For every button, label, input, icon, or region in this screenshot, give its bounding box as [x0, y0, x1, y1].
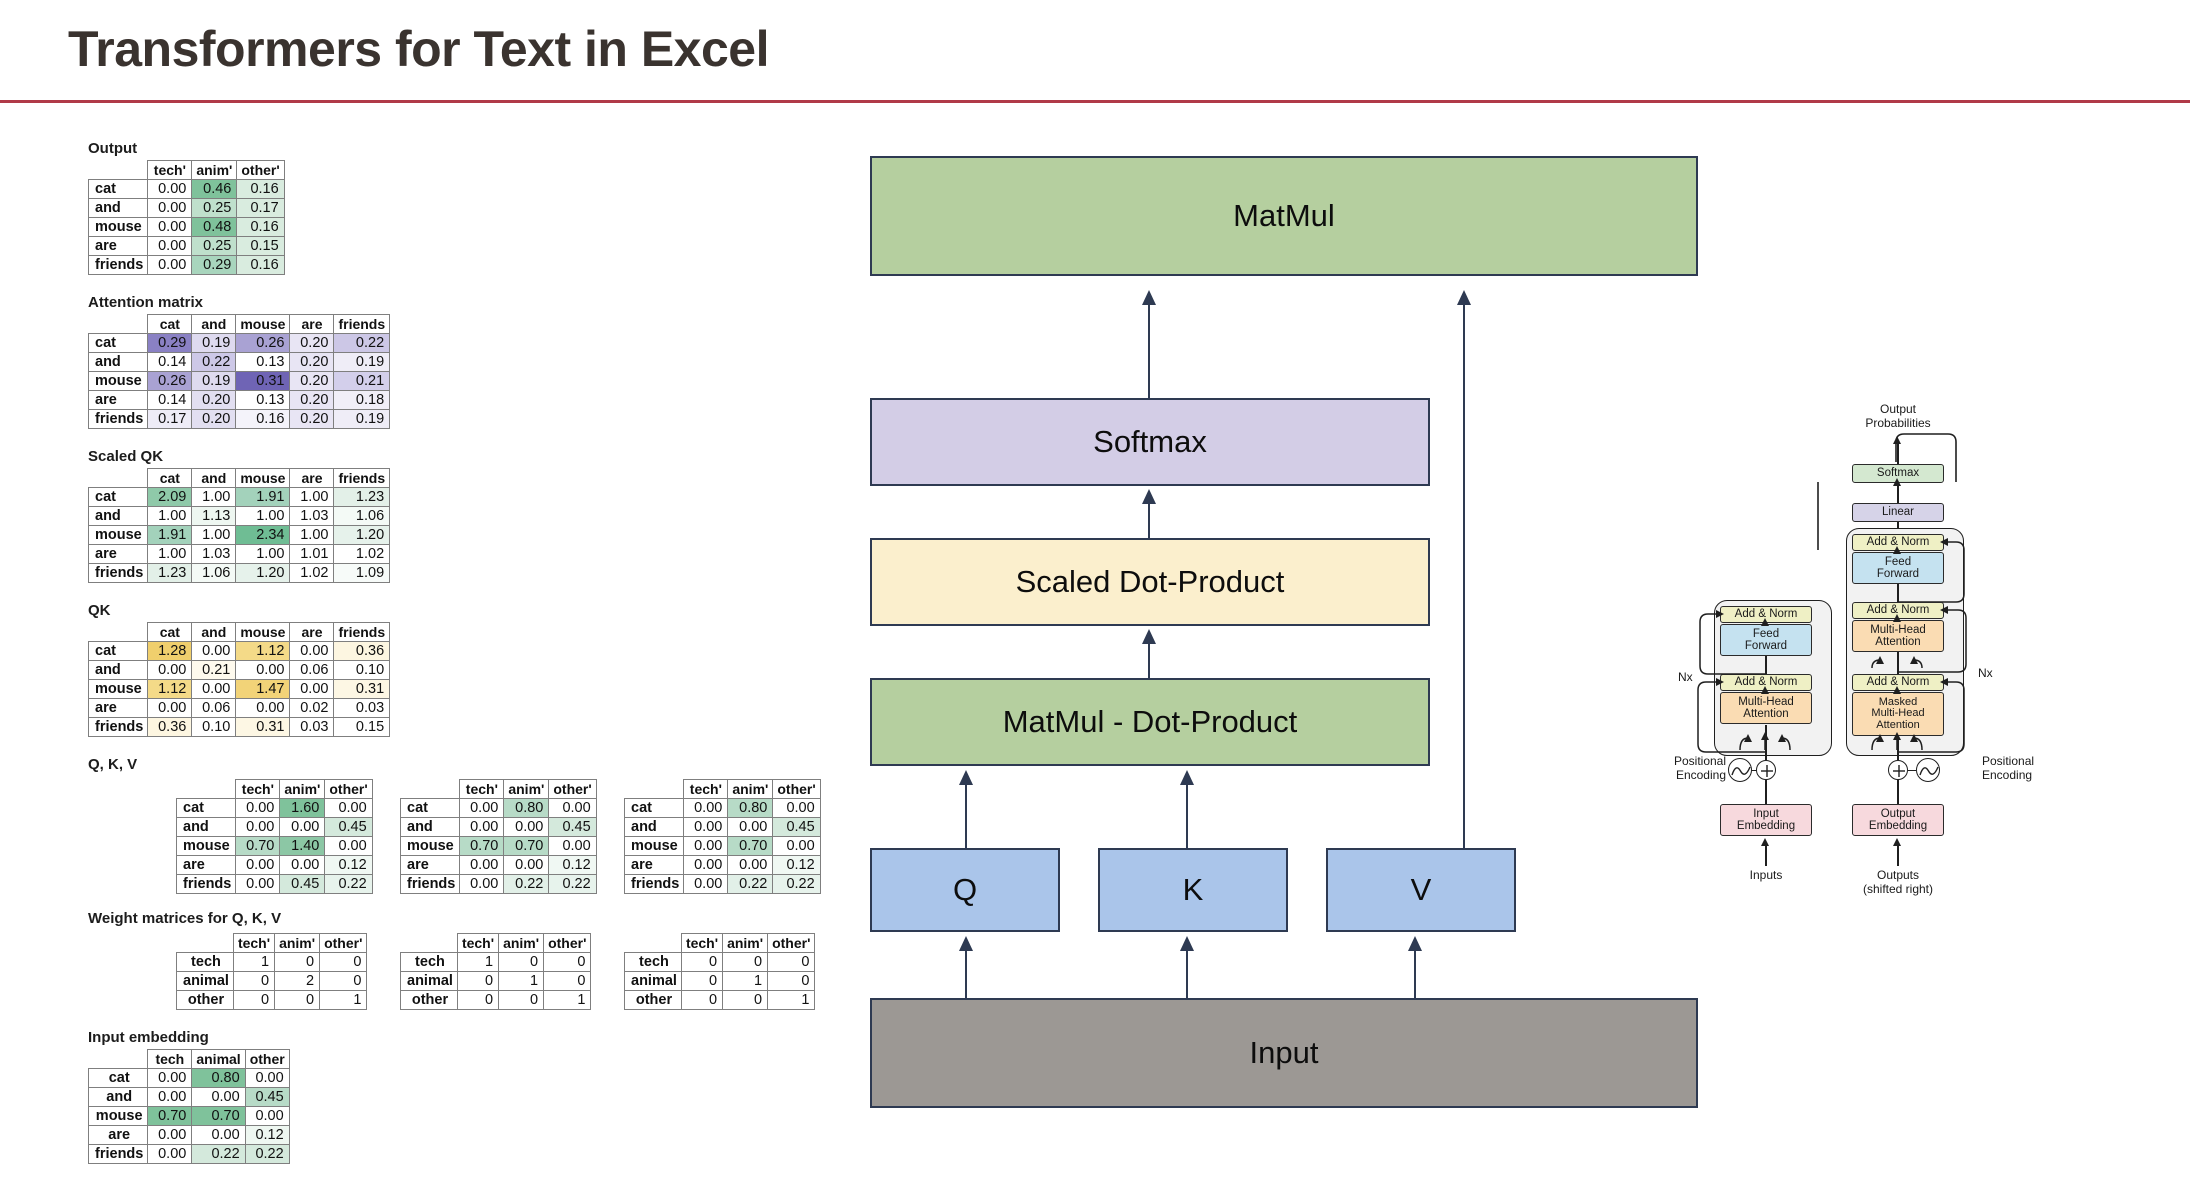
corner-cell: [89, 161, 148, 180]
cell: 0.80: [192, 1069, 245, 1088]
cell: 0.00: [684, 837, 728, 856]
table-row: other 0 0 1: [401, 991, 591, 1010]
sine-wave-icon-left: [1728, 758, 1752, 782]
cell: 0.00: [245, 1069, 289, 1088]
title-divider: [0, 100, 2190, 103]
cell: 0.20: [290, 334, 334, 353]
col-header: other: [245, 1050, 289, 1069]
cell: 0.22: [325, 875, 372, 894]
table-row: other 0 0 1: [625, 991, 815, 1010]
flow-box-k[interactable]: K: [1098, 848, 1288, 932]
row-header: friends: [89, 718, 148, 737]
cell: 0.03: [290, 718, 334, 737]
row-header: and: [625, 818, 684, 837]
arrowhead-inputs-embedding: [1761, 838, 1769, 846]
cell: 0.15: [237, 237, 284, 256]
cell: 0.00: [236, 799, 280, 818]
table-row: and 1.00 1.13 1.00 1.03 1.06: [89, 507, 390, 526]
cell: 1: [544, 991, 591, 1010]
table-header-row: tech' anim' other': [401, 780, 597, 799]
cell: 0: [457, 972, 498, 991]
cell: 0: [499, 991, 544, 1010]
line-embed-to-plus-right: [1897, 780, 1899, 804]
table-header-row: tech animal other: [89, 1050, 290, 1069]
cell: 0.14: [148, 391, 192, 410]
architecture-box-output-embedding[interactable]: Output Embedding: [1852, 804, 1944, 836]
cell: 0.00: [280, 856, 325, 875]
row-header: friends: [177, 875, 236, 894]
cell: 0.15: [334, 718, 390, 737]
excel-tables-panel: Output tech' anim' other' cat 0.00 0.46 …: [0, 104, 840, 1202]
cell: 0.36: [148, 718, 192, 737]
row-header: are: [89, 237, 148, 256]
row-header: tech: [625, 953, 682, 972]
table-label-qk: QK: [88, 602, 390, 619]
cell: 0: [457, 991, 498, 1010]
row-header: animal: [177, 972, 234, 991]
table-q: tech' anim' other' cat 0.00 1.60 0.00 an…: [176, 779, 373, 894]
table-k: tech' anim' other' cat 0.00 0.80 0.00 an…: [400, 779, 597, 894]
col-header: are: [290, 469, 334, 488]
cell: 1.06: [192, 564, 236, 583]
table-row: cat 2.09 1.00 1.91 1.00 1.23: [89, 488, 390, 507]
row-header: cat: [89, 1069, 148, 1088]
table-label-attention-matrix: Attention matrix: [88, 294, 390, 311]
flow-box-matmul-dot-product[interactable]: MatMul - Dot-Product: [870, 678, 1430, 766]
cell: 0.00: [148, 180, 192, 199]
col-header: anim': [499, 934, 544, 953]
col-header: other': [325, 780, 372, 799]
cell: 0.16: [237, 256, 284, 275]
table-header-row: cat and mouse are friends: [89, 469, 390, 488]
table-row: friends 0.00 0.22 0.22: [89, 1145, 290, 1164]
arrowhead-outputs-embedding: [1893, 838, 1901, 846]
row-header: mouse: [401, 837, 460, 856]
encoder-residual-loops: [1700, 420, 2190, 980]
cell: 1: [723, 972, 768, 991]
cell: 0.70: [728, 837, 773, 856]
sine-wave-icon-right: [1916, 758, 1940, 782]
col-header: tech': [457, 934, 498, 953]
cell: 0.14: [148, 353, 192, 372]
col-header: tech: [148, 1050, 192, 1069]
cell: 0.12: [325, 856, 372, 875]
corner-cell: [177, 934, 234, 953]
col-header: anim': [275, 934, 320, 953]
cell: 1: [499, 972, 544, 991]
cell: 0.06: [192, 699, 236, 718]
cell: 0: [320, 972, 367, 991]
table-row: and 0.00 0.00 0.45: [625, 818, 821, 837]
cell: 0.12: [549, 856, 596, 875]
cell: 1.03: [192, 545, 236, 564]
table-row: cat 0.00 0.80 0.00: [89, 1069, 290, 1088]
row-header: friends: [89, 256, 148, 275]
table-block-scaled-qk: Scaled QK cat and mouse are friends cat …: [88, 448, 390, 583]
table-row: are 0.00 0.00 0.12: [177, 856, 373, 875]
table-row: are 0.00 0.06 0.00 0.02 0.03: [89, 699, 390, 718]
table-row: mouse 1.91 1.00 2.34 1.00 1.20: [89, 526, 390, 545]
cell: 0: [681, 972, 722, 991]
table-header-row: tech' anim' other': [625, 780, 821, 799]
cell: 0.00: [460, 856, 504, 875]
table-header-row: tech' anim' other': [401, 934, 591, 953]
cell: 1: [768, 991, 815, 1010]
table-block-attention-matrix: Attention matrix cat and mouse are frien…: [88, 294, 390, 429]
architecture-label-positional-encoding-right: Positional Encoding: [1982, 754, 2072, 782]
cell: 0: [275, 991, 320, 1010]
cell: 1.13: [192, 507, 236, 526]
table-header-row: tech' anim' other': [625, 934, 815, 953]
cell: 0.13: [236, 353, 290, 372]
cell: 0.29: [192, 256, 237, 275]
cell: 2.34: [236, 526, 290, 545]
cell: 0.00: [504, 818, 549, 837]
cell: 1.00: [192, 526, 236, 545]
line-embed-to-plus-left: [1765, 780, 1767, 804]
flow-box-q[interactable]: Q: [870, 848, 1060, 932]
cell: 0.80: [504, 799, 549, 818]
table-row: friends 0.00 0.45 0.22: [177, 875, 373, 894]
cell: 0.22: [334, 334, 390, 353]
table-wq: tech' anim' other' tech 1 0 0 animal 0 2…: [176, 933, 367, 1010]
architecture-label-inputs: Inputs: [1726, 868, 1806, 882]
cell: 1.00: [290, 488, 334, 507]
cell: 0.00: [148, 699, 192, 718]
cell: 0.00: [148, 237, 192, 256]
table-block-qk: QK cat and mouse are friends cat 1.28 0.…: [88, 602, 390, 737]
cell: 1.12: [236, 642, 290, 661]
cell: 0.00: [290, 642, 334, 661]
col-header: anim': [728, 780, 773, 799]
cell: 1.03: [290, 507, 334, 526]
line-outputs-to-embedding: [1897, 844, 1899, 866]
architecture-box-input-embedding[interactable]: Input Embedding: [1720, 804, 1812, 836]
cell: 1.02: [290, 564, 334, 583]
cell: 0: [681, 953, 722, 972]
cell: 0.00: [192, 1126, 245, 1145]
flow-box-v[interactable]: V: [1326, 848, 1516, 932]
row-header: mouse: [625, 837, 684, 856]
cell: 0.00: [192, 642, 236, 661]
cell: 1.47: [236, 680, 290, 699]
row-header: mouse: [89, 680, 148, 699]
cell: 0.36: [334, 642, 390, 661]
cell: 0.21: [192, 661, 236, 680]
cell: 0.20: [290, 410, 334, 429]
cell: 0.00: [245, 1107, 289, 1126]
row-header: mouse: [89, 1107, 148, 1126]
table-scaled-qk: cat and mouse are friends cat 2.09 1.00 …: [88, 468, 390, 583]
col-header: friends: [334, 315, 390, 334]
col-header: tech': [236, 780, 280, 799]
col-header: other': [773, 780, 820, 799]
cell: 0.21: [334, 372, 390, 391]
row-header: mouse: [89, 526, 148, 545]
row-header: tech: [177, 953, 234, 972]
cell: 0.19: [334, 410, 390, 429]
cell: 1.28: [148, 642, 192, 661]
table-row: are 0.00 0.25 0.15: [89, 237, 285, 256]
cell: 0.00: [325, 799, 372, 818]
cell: 0.29: [148, 334, 192, 353]
row-header: are: [89, 699, 148, 718]
row-header: cat: [89, 180, 148, 199]
cell: 1.00: [290, 526, 334, 545]
table-row: animal 0 1 0: [401, 972, 591, 991]
cell: 1.00: [148, 545, 192, 564]
table-row: are 0.00 0.00 0.12: [89, 1126, 290, 1145]
row-header: are: [625, 856, 684, 875]
architecture-label-nx-left: Nx: [1678, 670, 1693, 684]
row-header: cat: [89, 334, 148, 353]
cell: 0.46: [192, 180, 237, 199]
cell: 0.45: [549, 818, 596, 837]
row-header: friends: [89, 564, 148, 583]
row-header: cat: [89, 642, 148, 661]
corner-cell: [89, 469, 148, 488]
cell: 0.26: [236, 334, 290, 353]
cell: 0: [723, 953, 768, 972]
table-row: friends 0.00 0.22 0.22: [625, 875, 821, 894]
table-row: tech 1 0 0: [401, 953, 591, 972]
cell: 0.12: [773, 856, 820, 875]
table-row: mouse 1.12 0.00 1.47 0.00 0.31: [89, 680, 390, 699]
table-header-row: tech' anim' other': [177, 934, 367, 953]
cell: 0.00: [148, 1126, 192, 1145]
col-header: are: [290, 623, 334, 642]
table-row: friends 0.36 0.10 0.31 0.03 0.15: [89, 718, 390, 737]
table-row: animal 0 1 0: [625, 972, 815, 991]
row-header: are: [89, 1126, 148, 1145]
table-row: friends 0.00 0.22 0.22: [401, 875, 597, 894]
cell: 1.02: [334, 545, 390, 564]
col-header: friends: [334, 469, 390, 488]
row-header: cat: [89, 488, 148, 507]
table-row: mouse 0.70 0.70 0.00: [89, 1107, 290, 1126]
cell: 0.22: [773, 875, 820, 894]
cell: 0: [275, 953, 320, 972]
cell: 0.70: [236, 837, 280, 856]
architecture-label-outputs: Outputs (shifted right): [1852, 868, 1944, 896]
col-header: tech': [233, 934, 274, 953]
cell: 0: [233, 991, 274, 1010]
cell: 0.00: [549, 799, 596, 818]
col-header: anim': [504, 780, 549, 799]
page-header: Transformers for Text in Excel: [0, 0, 2190, 104]
table-row: and 0.00 0.00 0.45: [177, 818, 373, 837]
cell: 1.60: [280, 799, 325, 818]
line-sine-to-plus-left: [1751, 770, 1757, 772]
cell: 0.00: [684, 875, 728, 894]
col-header: cat: [148, 469, 192, 488]
cell: 0.22: [549, 875, 596, 894]
table-row: other 0 0 1: [177, 991, 367, 1010]
cell: 0.20: [192, 410, 236, 429]
cell: 0: [544, 953, 591, 972]
row-header: animal: [625, 972, 682, 991]
cell: 0.02: [290, 699, 334, 718]
transformer-architecture-diagram: Output Probabilities Softmax Linear Add …: [1700, 420, 2190, 980]
table-header-row: cat and mouse are friends: [89, 623, 390, 642]
table-wv: tech' anim' other' tech 0 0 0 animal 0 1…: [624, 933, 815, 1010]
cell: 0.31: [236, 718, 290, 737]
cell: 0.00: [325, 837, 372, 856]
cell: 1: [457, 953, 498, 972]
table-label-weights: Weight matrices for Q, K, V: [88, 910, 281, 927]
cell: 0.22: [245, 1145, 289, 1164]
cell: 0.31: [236, 372, 290, 391]
cell: 1.01: [290, 545, 334, 564]
col-header: other': [320, 934, 367, 953]
col-header: and: [192, 315, 236, 334]
flow-box-scaled-dot-product[interactable]: Scaled Dot-Product: [870, 538, 1430, 626]
cell: 0.18: [334, 391, 390, 410]
table-row: tech 0 0 0: [625, 953, 815, 972]
cell: 0.00: [148, 256, 192, 275]
table-row: are 0.14 0.20 0.13 0.20 0.18: [89, 391, 390, 410]
cell: 0.19: [192, 372, 236, 391]
cell: 0.06: [290, 661, 334, 680]
cell: 0: [681, 991, 722, 1010]
col-header: mouse: [236, 623, 290, 642]
table-block-weights: Weight matrices for Q, K, V: [88, 910, 281, 930]
row-header: and: [177, 818, 236, 837]
row-header: and: [89, 353, 148, 372]
cell: 0.22: [192, 1145, 245, 1164]
table-row: cat 0.00 0.80 0.00: [625, 799, 821, 818]
table-row: mouse 0.26 0.19 0.31 0.20 0.21: [89, 372, 390, 391]
table-input-embedding: tech animal other cat 0.00 0.80 0.00 and…: [88, 1049, 290, 1164]
cell: 1.00: [236, 507, 290, 526]
table-row: mouse 0.70 1.40 0.00: [177, 837, 373, 856]
flow-box-input[interactable]: Input: [870, 998, 1698, 1108]
corner-cell: [401, 934, 458, 953]
row-header: other: [625, 991, 682, 1010]
table-v: tech' anim' other' cat 0.00 0.80 0.00 an…: [624, 779, 821, 894]
cell: 0.20: [290, 353, 334, 372]
table-row: and 0.00 0.25 0.17: [89, 199, 285, 218]
cell: 0.00: [684, 799, 728, 818]
row-header: and: [89, 661, 148, 680]
col-header: mouse: [236, 469, 290, 488]
table-label-scaled-qk: Scaled QK: [88, 448, 390, 465]
cell: 0.19: [192, 334, 236, 353]
cell: 0.16: [237, 218, 284, 237]
col-header: cat: [148, 623, 192, 642]
table-attention-matrix: cat and mouse are friends cat 0.29 0.19 …: [88, 314, 390, 429]
cell: 0.10: [192, 718, 236, 737]
cell: 0.00: [236, 875, 280, 894]
cell: 0.26: [148, 372, 192, 391]
table-row: are 0.00 0.00 0.12: [625, 856, 821, 875]
cell: 0.17: [237, 199, 284, 218]
table-row: and 0.00 0.00 0.45: [401, 818, 597, 837]
cell: 0: [320, 953, 367, 972]
cell: 0.00: [460, 799, 504, 818]
row-header: are: [89, 545, 148, 564]
table-row: friends 0.00 0.29 0.16: [89, 256, 285, 275]
cell: 0.45: [245, 1088, 289, 1107]
line-plus-to-sine-right: [1908, 770, 1916, 772]
row-header: cat: [625, 799, 684, 818]
table-header-row: tech' anim' other': [177, 780, 373, 799]
col-header: tech': [681, 934, 722, 953]
cell: 0.10: [334, 661, 390, 680]
row-header: and: [89, 199, 148, 218]
table-label-output: Output: [88, 140, 285, 157]
cell: 1.00: [236, 545, 290, 564]
flow-box-softmax[interactable]: Softmax: [870, 398, 1430, 486]
table-header-row: tech' anim' other': [89, 161, 285, 180]
table-label-qkv: Q, K, V: [88, 756, 137, 773]
row-header: cat: [401, 799, 460, 818]
cell: 0.00: [684, 856, 728, 875]
col-header: other': [544, 934, 591, 953]
cell: 0.31: [334, 680, 390, 699]
col-header: anim': [280, 780, 325, 799]
cell: 0.00: [236, 661, 290, 680]
col-header: animal: [192, 1050, 245, 1069]
row-header: mouse: [177, 837, 236, 856]
row-header: friends: [89, 410, 148, 429]
cell: 0.00: [728, 856, 773, 875]
row-header: other: [177, 991, 234, 1010]
col-header: other': [237, 161, 284, 180]
row-header: and: [89, 507, 148, 526]
cell: 0.00: [148, 661, 192, 680]
line-plus-to-encoder: [1765, 725, 1767, 760]
cell: 0.00: [192, 1088, 245, 1107]
architecture-label-nx-right: Nx: [1978, 666, 1993, 680]
cell: 0: [544, 972, 591, 991]
row-header: and: [89, 1088, 148, 1107]
table-block-qkv: Q, K, V: [88, 756, 137, 776]
row-header: friends: [401, 875, 460, 894]
architecture-label-positional-encoding-left: Positional Encoding: [1648, 754, 1726, 782]
cell: 0.70: [460, 837, 504, 856]
cell: 0.00: [728, 818, 773, 837]
cell: 0.03: [334, 699, 390, 718]
table-block-input-embedding: Input embedding tech animal other cat 0.…: [88, 1029, 290, 1164]
cell: 0.00: [280, 818, 325, 837]
cell: 2.09: [148, 488, 192, 507]
table-row: and 0.00 0.00 0.45: [89, 1088, 290, 1107]
cell: 0.00: [460, 818, 504, 837]
cell: 0.00: [148, 1088, 192, 1107]
cell: 0.20: [192, 391, 236, 410]
corner-cell: [89, 1050, 148, 1069]
table-qk: cat and mouse are friends cat 1.28 0.00 …: [88, 622, 390, 737]
cell: 0.00: [236, 699, 290, 718]
cell: 0.00: [236, 856, 280, 875]
cell: 1: [320, 991, 367, 1010]
page-title: Transformers for Text in Excel: [68, 20, 769, 78]
flow-box-matmul[interactable]: MatMul: [870, 156, 1698, 276]
cell: 1.91: [148, 526, 192, 545]
row-header: friends: [625, 875, 684, 894]
cell: 1.09: [334, 564, 390, 583]
cell: 0.80: [728, 799, 773, 818]
corner-cell: [401, 780, 460, 799]
table-row: friends 0.17 0.20 0.16 0.20 0.19: [89, 410, 390, 429]
table-block-output: Output tech' anim' other' cat 0.00 0.46 …: [88, 140, 285, 275]
col-header: and: [192, 623, 236, 642]
cell: 1.00: [192, 488, 236, 507]
row-header: are: [177, 856, 236, 875]
cell: 1.20: [334, 526, 390, 545]
col-header: other': [768, 934, 815, 953]
